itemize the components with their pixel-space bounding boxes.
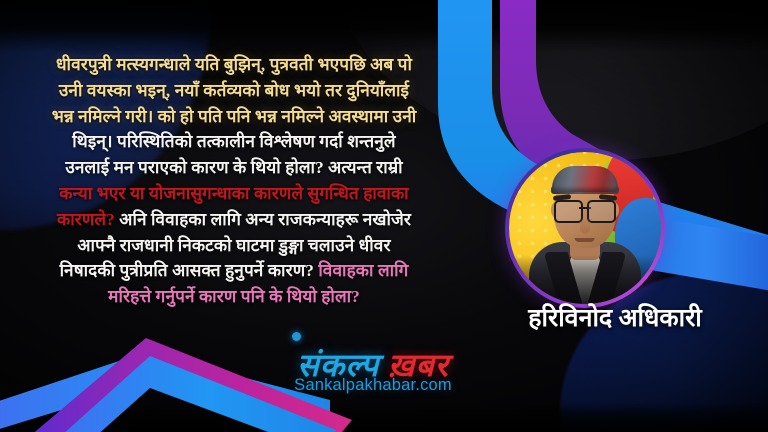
quote-line: मरिहत्ते गर्नुपर्ने कारण पनि के थियो होल… — [8, 284, 460, 310]
quote-segment: उनलाई मन पराएको कारण के थियो होला? अत्यन… — [65, 158, 402, 177]
quote-line: कारणले? अनि विवाहका लागि अन्य राजकन्याहर… — [8, 207, 460, 233]
portrait-image — [509, 152, 661, 304]
quote-segment: कारणले? — [57, 210, 115, 229]
topi-cap — [552, 166, 618, 192]
person-mouth — [575, 238, 595, 242]
logo-url: Sankalpakhabar.com — [228, 376, 518, 395]
quote-segment: आफ्नै राजधानी निकटको घाटमा डुङ्गा चलाउने… — [77, 236, 390, 255]
quote-line: भन्न नमिल्ने गरी। को हो पति पनि भन्न नमि… — [8, 104, 460, 130]
eyeglasses-icon — [554, 200, 616, 220]
news-quote-poster: धीवरपुत्री मत्स्यगन्धाले यति बुझिन्, पुत… — [0, 0, 768, 432]
author-name: हरिविनोद अधिकारी — [470, 300, 760, 334]
quote-segment: धीवरपुत्री मत्स्यगन्धाले यति बुझिन्, पुत… — [56, 55, 412, 74]
quote-segment: निषादकी पुत्रीप्रति आसक्त हुनुपर्ने कारण… — [60, 261, 314, 280]
quote-line: उनलाई मन पराएको कारण के थियो होला? अत्यन… — [8, 155, 460, 181]
quote-segment: विवाहका लागि — [314, 261, 408, 280]
quote-segment: थिइन्। परिस्थितिको तत्कालीन विश्लेषण गर्… — [72, 132, 395, 151]
site-logo[interactable]: संकल्पख़बर Sankalpakhabar.com — [228, 348, 518, 414]
portrait-bottom-fade — [509, 255, 661, 304]
logo-dot-icon — [292, 332, 301, 341]
quote-segment: अनि विवाहका लागि अन्य राजकन्याहरू नखोजेर — [115, 210, 411, 229]
quote-segment: मरिहत्ते गर्नुपर्ने कारण पनि के थियो होल… — [108, 287, 360, 306]
quote-line: उनी वयस्का भइन्, नयाँ कर्तव्यको बोध भयो … — [8, 78, 460, 104]
quote-text: धीवरपुत्री मत्स्यगन्धाले यति बुझिन्, पुत… — [8, 52, 460, 310]
quote-line: निषादकी पुत्रीप्रति आसक्त हुनुपर्ने कारण… — [8, 258, 460, 284]
lens-right — [587, 200, 616, 223]
quote-line: थिइन्। परिस्थितिको तत्कालीन विश्लेषण गर्… — [8, 129, 460, 155]
lens-left — [554, 200, 583, 223]
quote-line: कन्या भएर या योजनासुगन्धाका कारणले सुगन्… — [8, 181, 460, 207]
quote-segment: कन्या भएर या योजनासुगन्धाका कारणले सुगन्… — [59, 184, 408, 203]
quote-segment: भन्न नमिल्ने गरी। को हो पति पनि भन्न नमि… — [52, 107, 417, 126]
author-portrait — [505, 148, 665, 308]
quote-line: आफ्नै राजधानी निकटको घाटमा डुङ्गा चलाउने… — [8, 233, 460, 259]
person-nose — [580, 218, 590, 234]
quote-segment: उनी वयस्का भइन्, नयाँ कर्तव्यको बोध भयो … — [59, 81, 409, 100]
quote-line: धीवरपुत्री मत्स्यगन्धाले यति बुझिन्, पुत… — [8, 52, 460, 78]
background-top-shade — [0, 0, 768, 52]
